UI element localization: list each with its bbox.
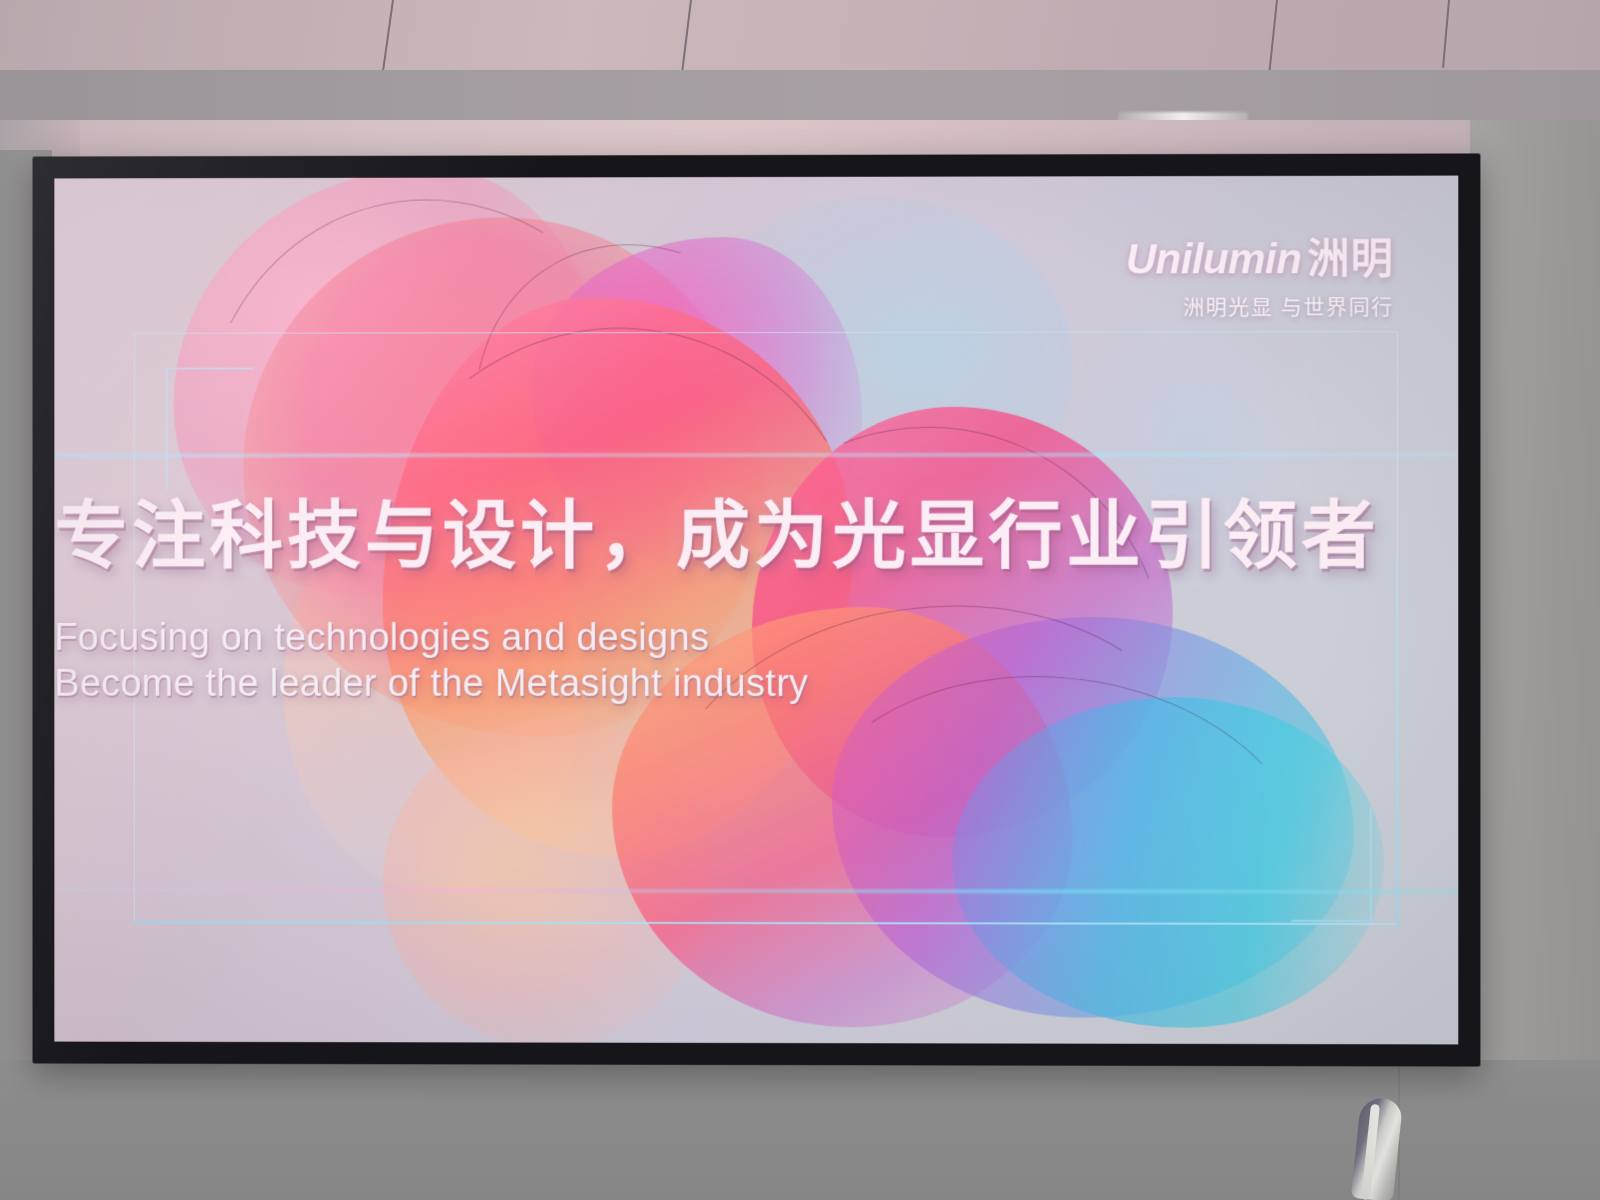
led-display-screen: Unilumin洲明 洲明光显 与世界同行 专注科技与设计，成为光显行业引领者 … xyxy=(54,176,1458,1045)
ceiling-hanger-wire xyxy=(1268,0,1278,80)
ceiling-hanger-wire xyxy=(1442,0,1450,68)
photo-scene: Unilumin洲明 洲明光显 与世界同行 专注科技与设计，成为光显行业引领者 … xyxy=(0,0,1600,1200)
led-display-bezel: Unilumin洲明 洲明光显 与世界同行 专注科技与设计，成为光显行业引领者 … xyxy=(33,153,1481,1066)
wall-right xyxy=(1470,120,1600,1200)
ceiling-bulkhead xyxy=(0,70,1600,126)
office-chair xyxy=(1348,1098,1406,1200)
ceiling xyxy=(0,0,1600,78)
led-pixel-grain xyxy=(54,176,1458,1045)
